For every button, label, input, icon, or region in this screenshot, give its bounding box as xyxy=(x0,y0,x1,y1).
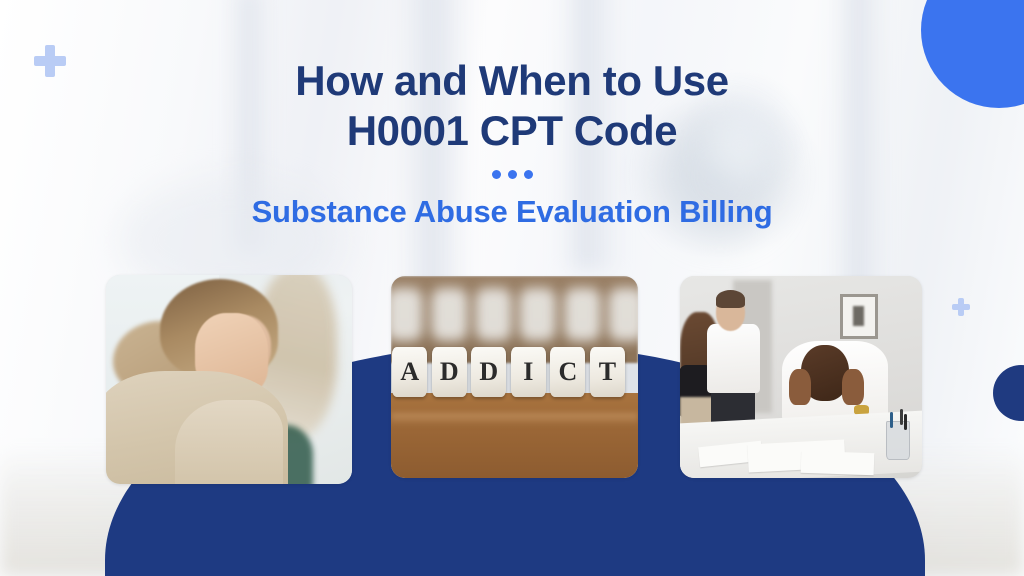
divider-dot xyxy=(492,170,501,179)
banner-canvas: How and When to Use H0001 CPT Code Subst… xyxy=(0,0,1024,576)
photo-card-3: Stressed man at an office desk holding h… xyxy=(680,276,922,478)
photo-card-row: Woman in a beige knit sweater covering h… xyxy=(0,275,1024,485)
photo-addict-dice: A D D I C T xyxy=(391,276,638,478)
divider-dot xyxy=(508,170,517,179)
dice-letter: D xyxy=(471,347,506,398)
title-line-1: How and When to Use xyxy=(0,56,1024,106)
page-title: How and When to Use H0001 CPT Code xyxy=(0,56,1024,155)
photo-woman-distressed xyxy=(106,275,352,484)
divider-dot xyxy=(524,170,533,179)
photo-card-2: A D D I C T White letter dice on a woode… xyxy=(391,276,638,478)
dice-letter: D xyxy=(432,347,467,398)
dice-letter: C xyxy=(550,347,585,398)
photo-office-stress xyxy=(680,276,922,478)
divider-dots xyxy=(0,170,1024,179)
dice-letter: T xyxy=(590,347,625,398)
headline-block: How and When to Use H0001 CPT Code Subst… xyxy=(0,56,1024,230)
dice-letter: A xyxy=(392,347,427,398)
title-line-2: H0001 CPT Code xyxy=(0,106,1024,156)
dice-letter: I xyxy=(511,347,546,398)
photo-card-1: Woman in a beige knit sweater covering h… xyxy=(106,275,352,484)
page-subtitle: Substance Abuse Evaluation Billing xyxy=(0,193,1024,230)
